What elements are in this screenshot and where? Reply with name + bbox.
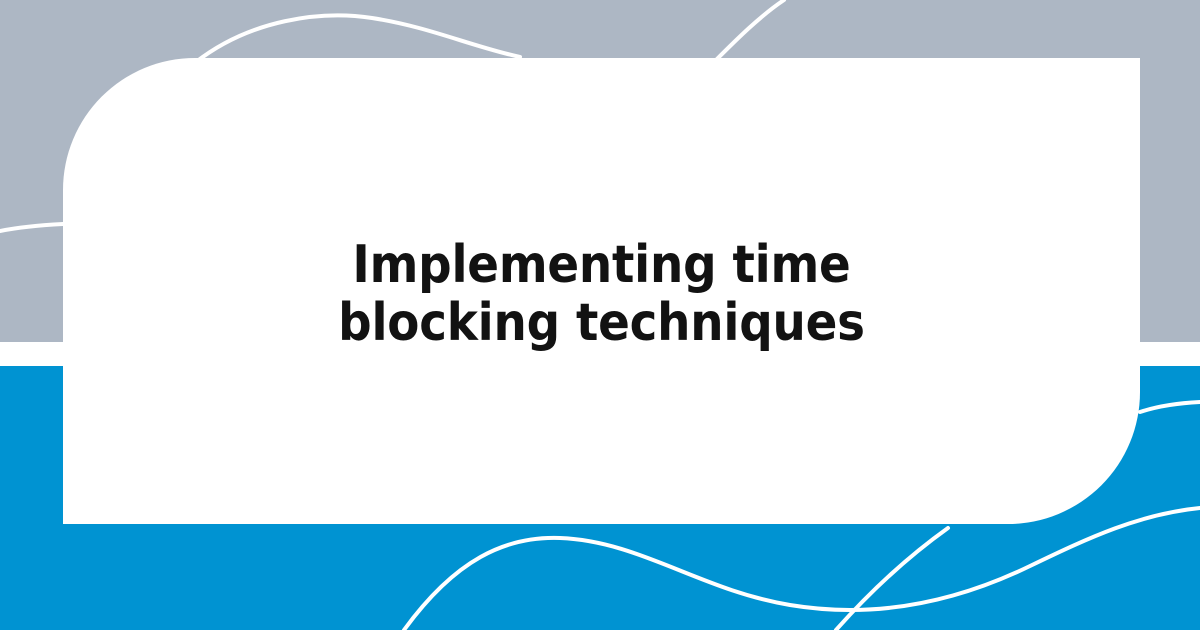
page-title: Implementing time blocking techniques: [262, 236, 942, 352]
title-wrapper: Implementing time blocking techniques: [63, 236, 1140, 352]
social-card-canvas: Implementing time blocking techniques: [0, 0, 1200, 630]
content-card: Implementing time blocking techniques: [63, 58, 1140, 524]
